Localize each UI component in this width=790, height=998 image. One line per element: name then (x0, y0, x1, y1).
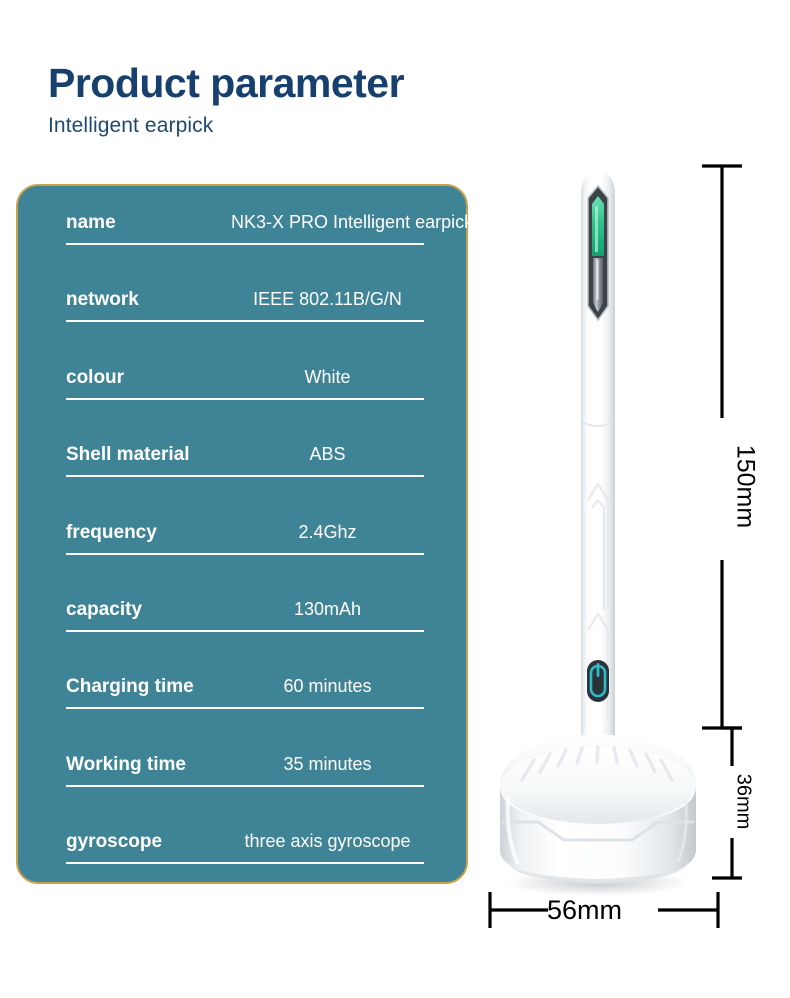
table-row: Working time 35 minutes (66, 754, 424, 787)
spec-value: ABS (231, 444, 424, 465)
header: Product parameter Intelligent earpick (48, 62, 404, 138)
spec-value: NK3-X PRO Intelligent earpick (231, 212, 473, 233)
spec-value: 130mAh (231, 599, 424, 620)
spec-label: gyroscope (66, 831, 231, 853)
spec-label: name (66, 212, 231, 234)
spec-label: frequency (66, 522, 231, 544)
spec-label: capacity (66, 599, 231, 621)
spec-label: Shell material (66, 444, 231, 466)
product-image (478, 160, 718, 900)
dimension-base-height-label: 36mm (732, 760, 755, 844)
table-row: Shell material ABS (66, 444, 424, 477)
earpick-tip (588, 186, 608, 320)
table-row: colour White (66, 367, 424, 400)
spec-value: 35 minutes (231, 754, 424, 775)
table-row: Charging time 60 minutes (66, 676, 424, 709)
spec-value: 2.4Ghz (231, 522, 424, 543)
spec-label: Charging time (66, 676, 231, 698)
spec-label: network (66, 289, 231, 311)
table-row: gyroscope three axis gyroscope (66, 831, 424, 864)
table-row: capacity 130mAh (66, 599, 424, 632)
spec-value: three axis gyroscope (231, 831, 424, 852)
page-subtitle: Intelligent earpick (48, 114, 404, 138)
specification-card: name NK3-X PRO Intelligent earpick netwo… (16, 184, 468, 884)
table-row: name NK3-X PRO Intelligent earpick (66, 212, 424, 245)
dimension-width-label: 56mm (547, 895, 622, 926)
specification-table: name NK3-X PRO Intelligent earpick netwo… (40, 212, 444, 864)
dimension-height-label: 150mm (731, 442, 760, 532)
spec-value: IEEE 802.11B/G/N (231, 289, 424, 310)
power-button (587, 660, 609, 702)
charging-base (500, 734, 696, 896)
spec-value: 60 minutes (231, 676, 424, 697)
spec-value: White (231, 367, 424, 388)
table-row: frequency 2.4Ghz (66, 522, 424, 555)
spec-label: Working time (66, 754, 231, 776)
spec-label: colour (66, 367, 231, 389)
page-title: Product parameter (48, 62, 404, 105)
table-row: network IEEE 802.11B/G/N (66, 289, 424, 322)
product-illustration (478, 160, 718, 900)
